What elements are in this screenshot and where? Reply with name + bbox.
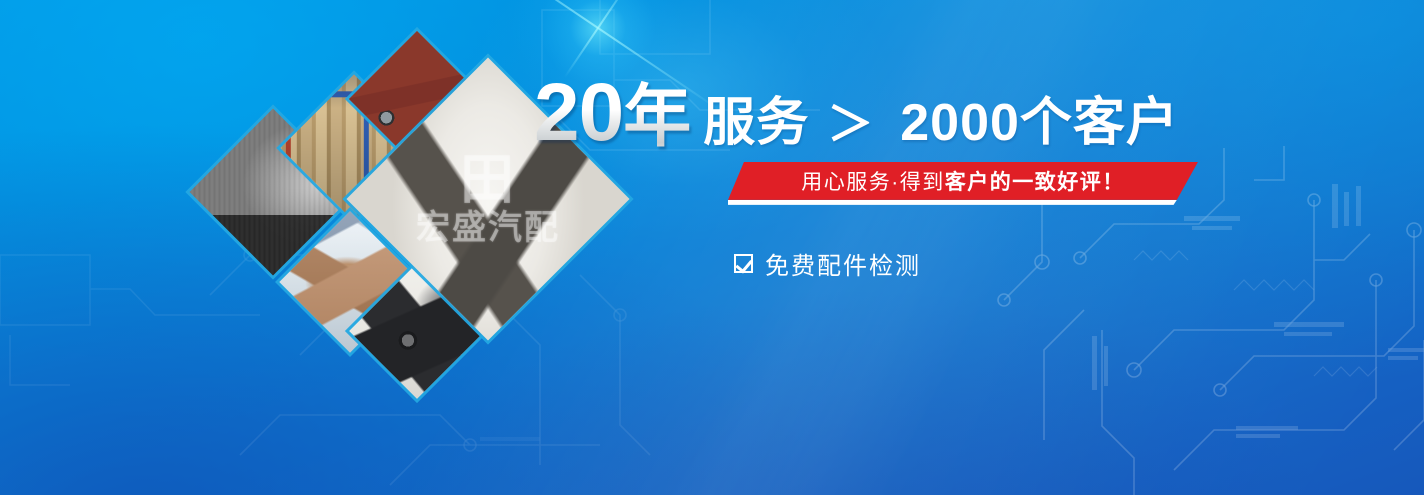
ribbon-text-strong: 客户的一致好评！ xyxy=(945,171,1125,194)
ribbon-text-lead: 用心服务·得到 xyxy=(801,171,945,194)
promo-banner: 田 宏盛汽配 20年 服务 ＞ 2000个客户 用心服务·得到客户的一致好评！ … xyxy=(0,0,1424,495)
feature-list: 免费配件检测 xyxy=(734,246,1234,281)
tagline-ribbon: 用心服务·得到客户的一致好评！ xyxy=(728,162,1198,200)
ribbon-body: 用心服务·得到客户的一致好评！ xyxy=(728,162,1198,200)
headline-comparator: ＞ xyxy=(827,101,874,147)
ribbon-text: 用心服务·得到客户的一致好评！ xyxy=(801,166,1125,196)
headline-years-number: 20 xyxy=(534,67,623,158)
headline: 20年 服务 ＞ 2000个客户 xyxy=(534,74,1234,152)
headline-years: 20年 xyxy=(534,74,693,152)
ribbon-underline xyxy=(728,200,1198,205)
headline-years-unit: 年 xyxy=(623,79,691,155)
banner-content: 20年 服务 ＞ 2000个客户 用心服务·得到客户的一致好评！ 免费配件检测 xyxy=(534,74,1234,281)
headline-customers: 2000个客户 xyxy=(900,97,1179,149)
checkbox-checked-icon xyxy=(734,254,753,273)
headline-service-word: 服务 xyxy=(703,97,809,149)
diamond-photo-collage: 田 宏盛汽配 xyxy=(0,0,620,420)
feature-item-label: 免费配件检测 xyxy=(765,246,921,281)
